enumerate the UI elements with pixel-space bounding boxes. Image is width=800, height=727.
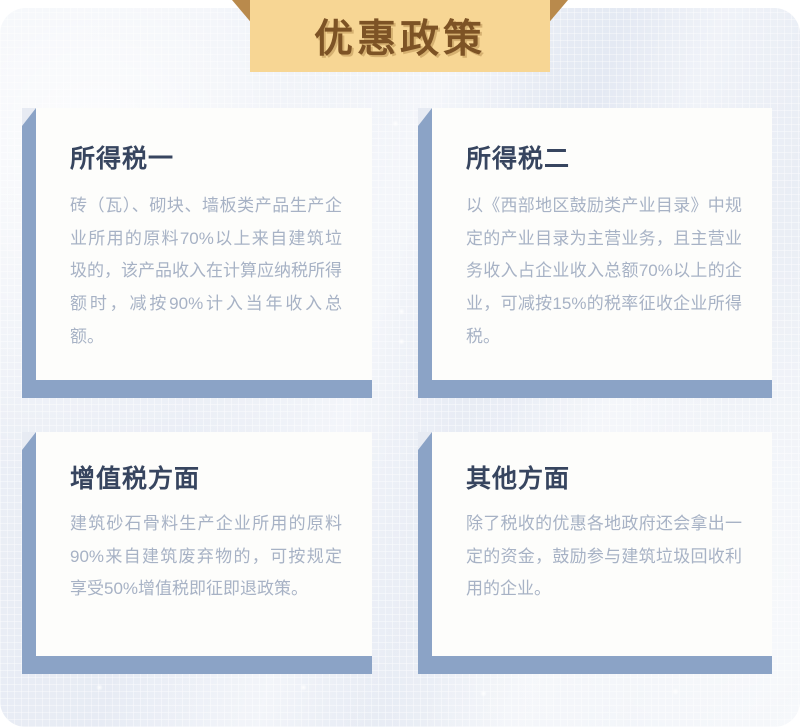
- card-body: 以《西部地区鼓励类产业目录》中规定的产业目录为主营业务，且主营业务收入占企业收入…: [466, 190, 742, 353]
- card-title: 其他方面: [466, 459, 570, 495]
- card-surface: 其他方面 除了税收的优惠各地政府还会拿出一定的资金，鼓励参与建筑垃圾回收利用的企…: [432, 432, 772, 656]
- page-title: 优惠政策: [250, 0, 550, 72]
- policy-card-income-tax-2: 所得税二 以《西部地区鼓励类产业目录》中规定的产业目录为主营业务，且主营业务收入…: [418, 108, 772, 398]
- card-surface: 所得税一 砖（瓦）、砌块、墙板类产品生产企业所用的原料70%以上来自建筑垃圾的，…: [36, 108, 372, 380]
- policy-card-income-tax-1: 所得税一 砖（瓦）、砌块、墙板类产品生产企业所用的原料70%以上来自建筑垃圾的，…: [22, 108, 372, 398]
- header-ribbon: 优惠政策: [232, 0, 568, 80]
- card-body: 建筑砂石骨料生产企业所用的原料90%来自建筑废弃物的，可按规定享受50%增值税即…: [70, 508, 342, 606]
- card-title: 所得税一: [70, 139, 174, 175]
- card-title: 增值税方面: [70, 459, 200, 495]
- card-body: 除了税收的优惠各地政府还会拿出一定的资金，鼓励参与建筑垃圾回收利用的企业。: [466, 508, 742, 606]
- policy-card-vat: 增值税方面 建筑砂石骨料生产企业所用的原料90%来自建筑废弃物的，可按规定享受5…: [22, 432, 372, 674]
- card-body: 砖（瓦）、砌块、墙板类产品生产企业所用的原料70%以上来自建筑垃圾的，该产品收入…: [70, 190, 342, 353]
- card-surface: 所得税二 以《西部地区鼓励类产业目录》中规定的产业目录为主营业务，且主营业务收入…: [432, 108, 772, 380]
- infographic-root: 优惠政策 所得税一 砖（瓦）、砌块、墙板类产品生产企业所用的原料70%以上来自建…: [0, 0, 800, 727]
- card-surface: 增值税方面 建筑砂石骨料生产企业所用的原料90%来自建筑废弃物的，可按规定享受5…: [36, 432, 372, 656]
- policy-card-other: 其他方面 除了税收的优惠各地政府还会拿出一定的资金，鼓励参与建筑垃圾回收利用的企…: [418, 432, 772, 674]
- card-title: 所得税二: [466, 139, 570, 175]
